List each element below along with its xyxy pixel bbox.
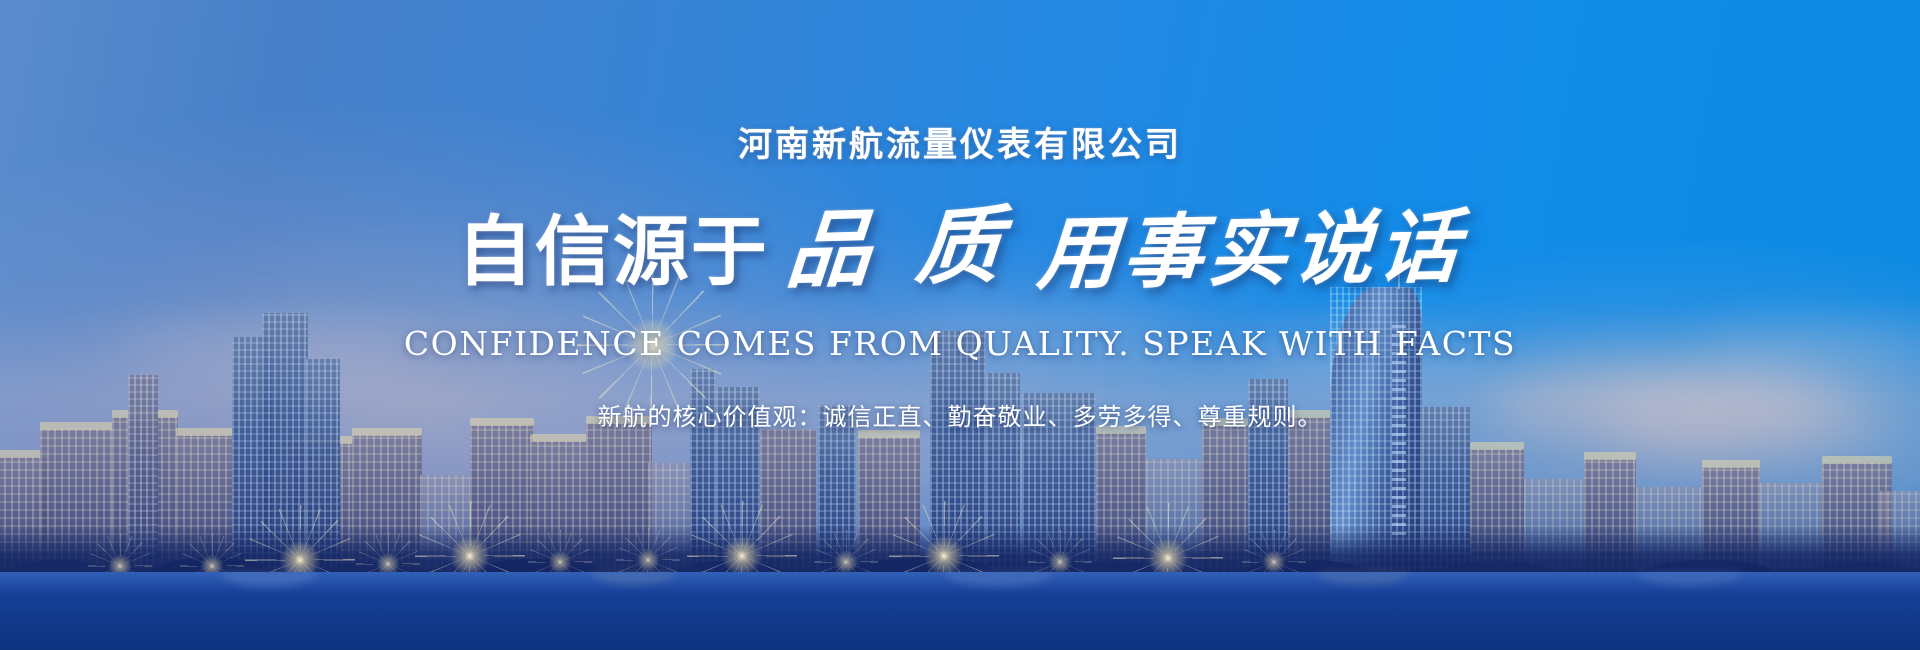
company-name: 河南新航流量仪表有限公司 bbox=[738, 128, 1182, 162]
headline: 自信源于 品 质 用事实说话 bbox=[457, 206, 1463, 290]
banner-content: 河南新航流量仪表有限公司 自信源于 品 质 用事实说话 CONFIDENCE C… bbox=[0, 0, 1920, 650]
subtitle-english: CONFIDENCE COMES FROM QUALITY. SPEAK WIT… bbox=[404, 324, 1516, 363]
hero-banner: 河南新航流量仪表有限公司 自信源于 品 质 用事实说话 CONFIDENCE C… bbox=[0, 0, 1920, 650]
headline-part-1: 自信源于 bbox=[457, 214, 769, 290]
headline-part-2-brush: 品 质 bbox=[783, 203, 1011, 293]
tagline-chinese: 新航的核心价值观：诚信正直、勤奋敬业、多劳多得、尊重规则。 bbox=[598, 397, 1323, 432]
headline-part-3: 用事实说话 bbox=[1035, 206, 1466, 293]
